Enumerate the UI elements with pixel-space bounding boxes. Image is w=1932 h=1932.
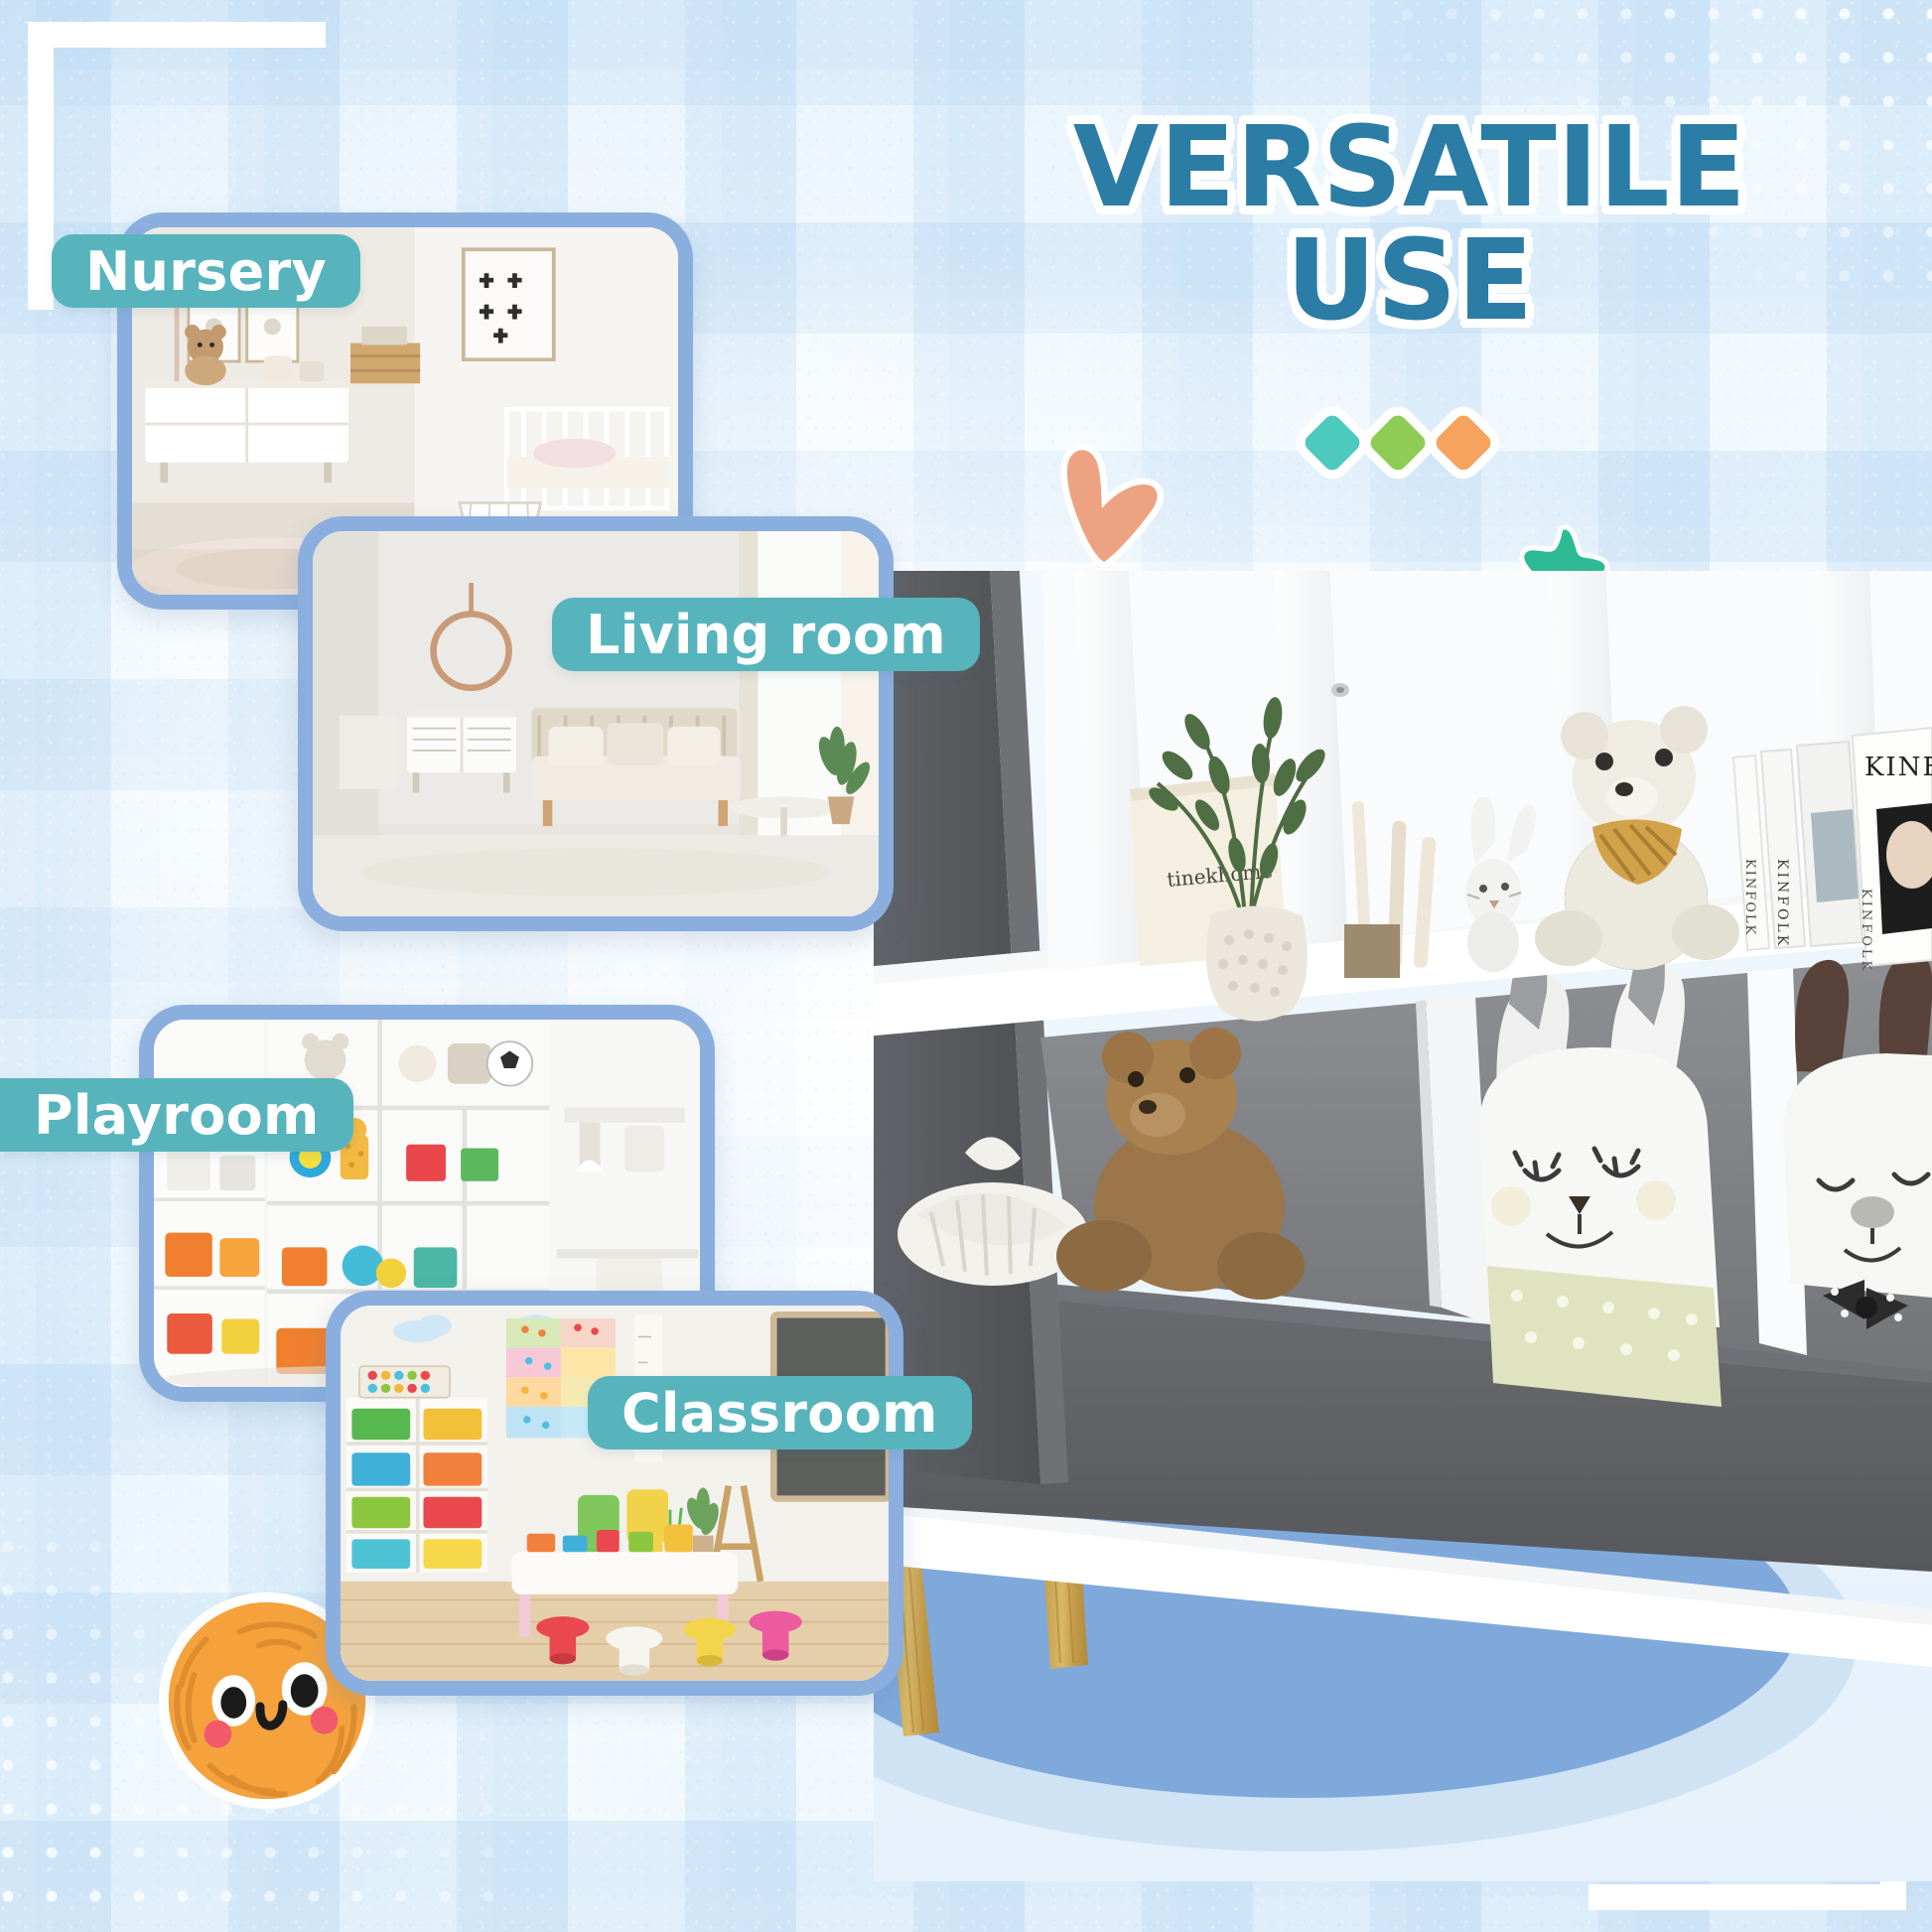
- badge-living-room[interactable]: Living room: [552, 598, 980, 671]
- badge-living-room-label: Living room: [586, 604, 946, 666]
- heart-icon: [1052, 437, 1172, 566]
- poster-canvas: VERSATILE USE: [0, 0, 1932, 1932]
- diamond-teal-icon: [1302, 412, 1363, 474]
- product-photo-bookshelf: tinekhome: [874, 571, 1932, 1881]
- svg-text:KINFOLK: KINFOLK: [1864, 753, 1932, 782]
- badge-playroom[interactable]: Playroom: [0, 1078, 353, 1152]
- page-title-line-1: VERSATILE: [1073, 103, 1747, 232]
- page-title-line-2: USE: [973, 224, 1847, 338]
- badge-playroom-label: Playroom: [34, 1084, 320, 1147]
- scene-card-classroom[interactable]: [326, 1291, 903, 1696]
- svg-text:KINFOLK: KINFOLK: [1859, 889, 1873, 973]
- classroom-photo: [341, 1306, 889, 1681]
- badge-classroom[interactable]: Classroom: [588, 1376, 972, 1449]
- page-title: VERSATILE USE: [973, 111, 1847, 338]
- badge-nursery[interactable]: Nursery: [52, 234, 360, 308]
- diamond-row: [1311, 421, 1485, 465]
- diamond-orange-icon: [1433, 412, 1494, 474]
- diamond-green-icon: [1367, 412, 1429, 474]
- scene-card-living-room[interactable]: [298, 516, 894, 931]
- badge-classroom-label: Classroom: [621, 1382, 938, 1445]
- living-room-photo: [313, 531, 879, 916]
- badge-nursery-label: Nursery: [85, 240, 327, 303]
